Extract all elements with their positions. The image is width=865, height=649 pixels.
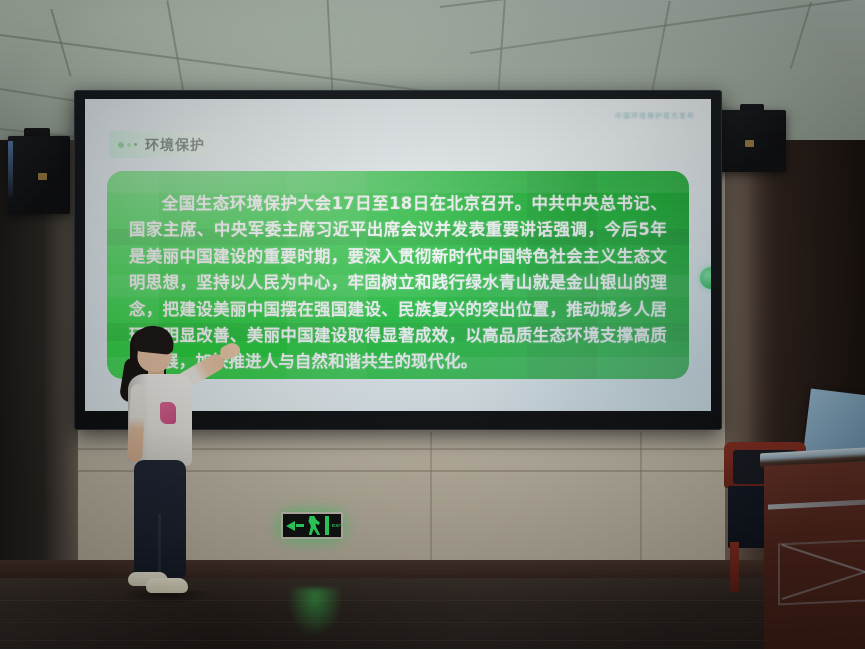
presenter-leg-seam <box>158 514 161 578</box>
slide-title: 环境保护 <box>145 135 205 155</box>
speaker-badge <box>745 140 754 147</box>
arrow-left-icon-tail <box>296 524 304 527</box>
floor-plank-line <box>0 640 865 641</box>
leaf-dots-icon <box>118 142 137 148</box>
arrow-left-icon <box>286 521 295 531</box>
photo-scene: 中国环境保护官方发布 环境保护 <box>0 0 865 649</box>
slide-title-badge: 环境保护 <box>109 131 227 158</box>
circle-decoration-icon <box>700 267 711 289</box>
floor-plank-line <box>0 622 865 623</box>
lectern <box>760 448 865 649</box>
dot-icon <box>118 142 124 148</box>
presenter <box>112 328 244 620</box>
speaker-left <box>8 136 70 214</box>
running-person-icon <box>307 516 322 535</box>
wall-seam <box>430 432 432 560</box>
emergency-exit-sign: EXIT <box>281 512 343 539</box>
dot-icon <box>127 143 131 147</box>
speaker-badge <box>38 173 47 180</box>
speaker-edge-light <box>8 141 13 197</box>
wall-seam <box>640 432 642 560</box>
exit-sign-label: EXIT <box>332 523 343 528</box>
slide-watermark: 中国环境保护官方发布 <box>615 111 695 121</box>
chair-leg <box>730 542 739 592</box>
door-icon <box>325 516 329 535</box>
presenter-shirt-graphic <box>160 402 176 424</box>
exit-sign-floor-reflection <box>288 588 342 636</box>
wall-seam <box>0 470 740 472</box>
presenter-shoe <box>146 578 188 593</box>
dot-icon <box>134 143 137 146</box>
